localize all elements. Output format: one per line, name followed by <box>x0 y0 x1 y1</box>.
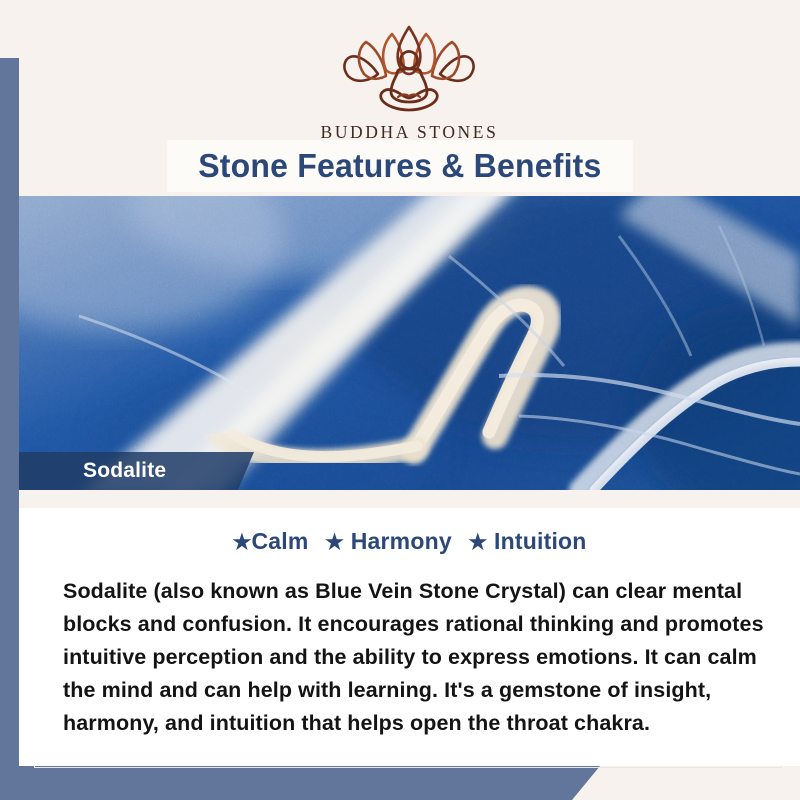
stone-photo <box>19 196 800 490</box>
page-title: Stone Features & Benefits <box>198 147 601 185</box>
keyword-spacer-0 <box>314 528 321 554</box>
stone-name-badge: Sodalite <box>19 452 254 490</box>
lotus-meditation-icon <box>334 24 484 116</box>
keyword-item-2: ★ Intuition <box>468 528 586 554</box>
title-banner: Stone Features & Benefits <box>168 141 632 191</box>
frame-left-accent-band <box>0 58 19 778</box>
brand-logo: BUDDHA STONES <box>321 24 499 143</box>
stone-keywords: ★Calm ★ Harmony ★ Intuition <box>39 528 780 555</box>
brand-wordmark: BUDDHA STONES <box>321 122 499 143</box>
content-panel: ★Calm ★ Harmony ★ Intuition Sodalite (al… <box>19 508 800 766</box>
star-icon: ★ <box>468 531 487 554</box>
sodalite-texture-graphic <box>19 196 800 490</box>
content-top-strip <box>19 490 800 508</box>
keyword-item-0: ★Calm <box>232 528 308 554</box>
keyword-item-1: ★ Harmony <box>325 528 452 554</box>
keyword-label-2: Intuition <box>494 528 587 554</box>
star-icon: ★ <box>325 531 344 554</box>
keyword-spacer-1 <box>457 528 464 554</box>
frame-bottom-accent-band <box>0 766 600 800</box>
stone-name-label: Sodalite <box>19 459 166 483</box>
keyword-label-0: Calm <box>251 528 308 554</box>
keyword-label-1: Harmony <box>351 528 452 554</box>
star-icon: ★ <box>232 531 251 554</box>
stone-description: Sodalite (also known as Blue Vein Stone … <box>63 575 775 740</box>
